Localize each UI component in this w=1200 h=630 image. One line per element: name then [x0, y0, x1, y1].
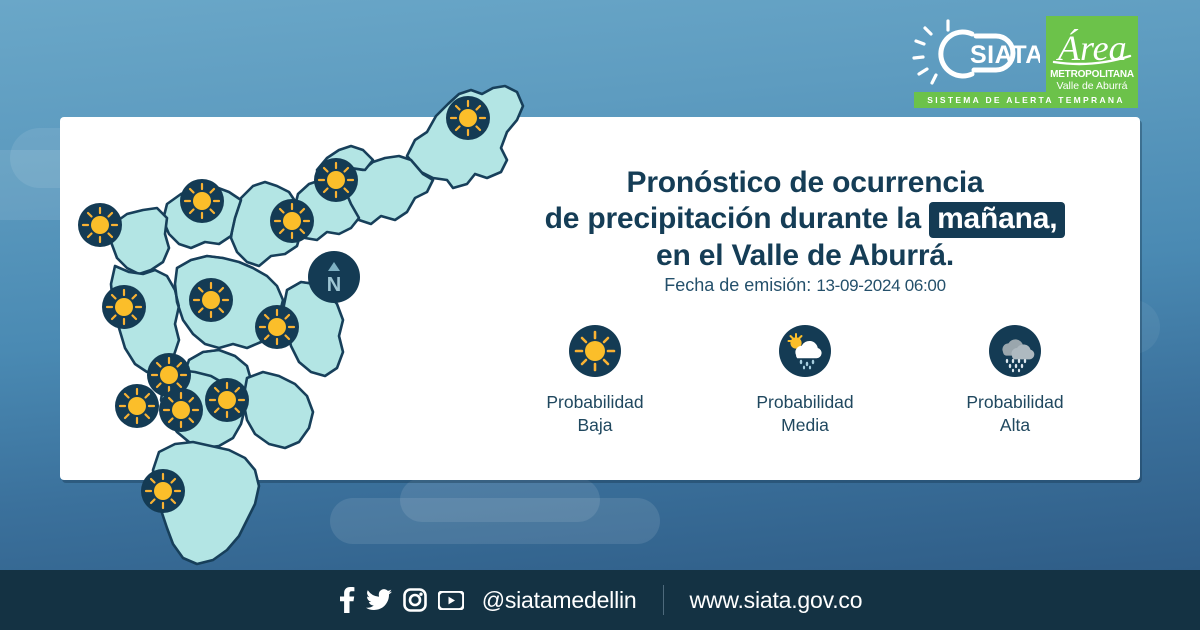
map-marker-12: [205, 378, 249, 422]
sun-cloud-rain-icon: [779, 325, 831, 377]
map-marker-6: [102, 285, 146, 329]
area-metropolitana-logo: Área METROPOLITANA Valle de Aburrá: [1046, 16, 1138, 96]
area-logo-line2: Valle de Aburrá: [1056, 80, 1127, 92]
map-marker-11: [159, 388, 203, 432]
footer-divider: [663, 585, 664, 615]
page-title: Pronóstico de ocurrencia de precipitació…: [470, 165, 1140, 274]
map-marker-8: [255, 305, 299, 349]
svg-text:SIATA: SIATA: [970, 41, 1040, 69]
valle-de-aburra-map: N: [55, 28, 525, 573]
map-marker-13: [141, 469, 185, 513]
website-url[interactable]: www.siata.gov.co: [690, 587, 863, 614]
title-line-2: de precipitación durante la mañana,: [470, 201, 1140, 238]
probability-legend: Probabilidad Baja: [490, 325, 1120, 437]
social-icons: [338, 587, 464, 613]
siata-tagline: SISTEMA DE ALERTA TEMPRANA: [914, 92, 1138, 108]
title-line-2-text: de precipitación durante la: [545, 202, 921, 235]
map-marker-5: [78, 203, 122, 247]
siata-logo: SIATA: [910, 16, 1040, 88]
issue-date: Fecha de emisión:13-09-2024 06:00: [470, 275, 1140, 296]
map-marker-4: [180, 179, 224, 223]
forecast-panel: Pronóstico de ocurrencia de precipitació…: [470, 117, 1140, 480]
issue-date-label: Fecha de emisión:: [664, 275, 811, 295]
footer-bar: @siatamedellin www.siata.gov.co: [0, 570, 1200, 630]
legend-item-alta: Probabilidad Alta: [920, 325, 1110, 437]
legend-label-line1: Probabilidad: [546, 391, 643, 414]
issue-date-value: 13-09-2024 06:00: [816, 276, 945, 295]
title-line-3: en el Valle de Aburrá.: [470, 238, 1140, 274]
legend-label-line1: Probabilidad: [756, 391, 853, 414]
youtube-icon[interactable]: [438, 591, 464, 610]
map-marker-2: [314, 158, 358, 202]
cloud-rain-icon: [989, 325, 1041, 377]
map-marker-10: [115, 384, 159, 428]
svg-text:N: N: [327, 274, 341, 296]
period-highlight: mañana,: [929, 202, 1065, 238]
sun-icon: [569, 325, 621, 377]
legend-label-line2: Baja: [577, 414, 612, 437]
logo-group: SIATA Área METROPOLITANA Valle de Aburrá: [910, 16, 1138, 96]
twitter-icon[interactable]: [366, 589, 392, 611]
legend-item-media: Probabilidad Media: [710, 325, 900, 437]
map-marker-7: [189, 278, 233, 322]
instagram-icon[interactable]: [403, 588, 427, 612]
legend-label-line1: Probabilidad: [966, 391, 1063, 414]
facebook-icon[interactable]: [338, 587, 355, 613]
social-handle[interactable]: @siatamedellin: [482, 587, 637, 614]
svg-text:Área: Área: [1056, 28, 1127, 68]
title-line-1: Pronóstico de ocurrencia: [470, 165, 1140, 201]
map-marker-3: [270, 199, 314, 243]
compass-north-icon: N: [308, 251, 360, 303]
legend-item-baja: Probabilidad Baja: [500, 325, 690, 437]
infographic-stage: SIATA Área METROPOLITANA Valle de Aburrá…: [0, 0, 1200, 630]
legend-label-line2: Media: [781, 414, 829, 437]
area-logo-line1: METROPOLITANA: [1050, 69, 1134, 80]
legend-label-line2: Alta: [1000, 414, 1030, 437]
